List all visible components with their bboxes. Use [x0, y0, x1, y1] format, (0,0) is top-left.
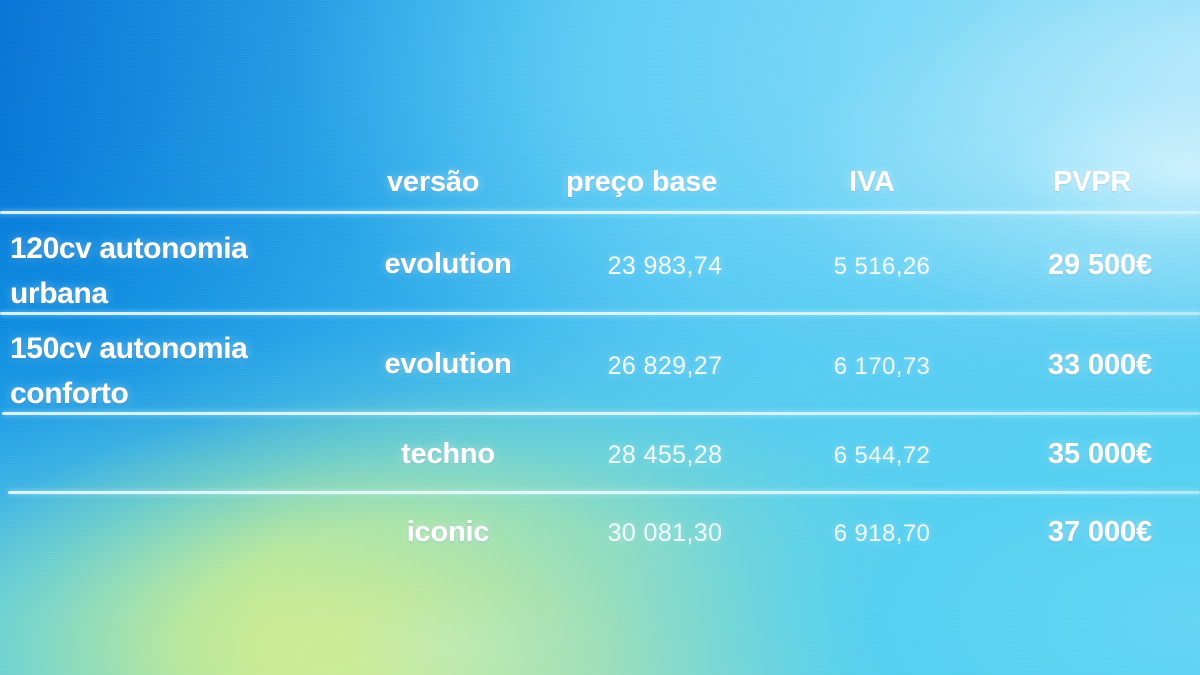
- price-table: versão preço base IVA PVPR 120cv autonom…: [0, 0, 1200, 675]
- table-row-2-preco: 26 829,27: [535, 352, 795, 381]
- table-row-1-iva: 5 516,26: [762, 253, 1002, 281]
- table-row-2-pvpr: 33 000€: [970, 349, 1200, 382]
- column-header-iva: IVA: [849, 166, 895, 199]
- table-row-4-pvpr: 37 000€: [970, 516, 1200, 549]
- row-separator-line-3: [8, 491, 1200, 494]
- table-row-3-preco: 28 455,28: [535, 441, 795, 470]
- table-row-1-preco: 23 983,74: [535, 252, 795, 281]
- row-label-120cv-line2: urbana: [10, 271, 247, 316]
- row-label-150cv-line2: conforto: [10, 371, 247, 416]
- table-row-3-pvpr: 35 000€: [970, 438, 1200, 471]
- table-row-4-iva: 6 918,70: [762, 520, 1002, 548]
- table-row-2-iva: 6 170,73: [762, 353, 1002, 381]
- column-header-versao: versão: [387, 166, 479, 199]
- row-label-120cv-line1: 120cv autonomia: [10, 226, 247, 271]
- column-header-preco-base: preço base: [566, 166, 717, 199]
- table-row-4-preco: 30 081,30: [535, 519, 795, 548]
- column-header-pvpr: PVPR: [1053, 166, 1131, 199]
- row-label-150cv-line1: 150cv autonomia: [10, 326, 247, 371]
- header-separator-line: [0, 211, 1200, 214]
- row-label-150cv: 150cv autonomia conforto: [10, 326, 247, 416]
- table-row-3-iva: 6 544,72: [762, 442, 1002, 470]
- slide-canvas: versão preço base IVA PVPR 120cv autonom…: [0, 0, 1200, 675]
- table-row-1-pvpr: 29 500€: [970, 249, 1200, 282]
- row-label-120cv: 120cv autonomia urbana: [10, 226, 247, 316]
